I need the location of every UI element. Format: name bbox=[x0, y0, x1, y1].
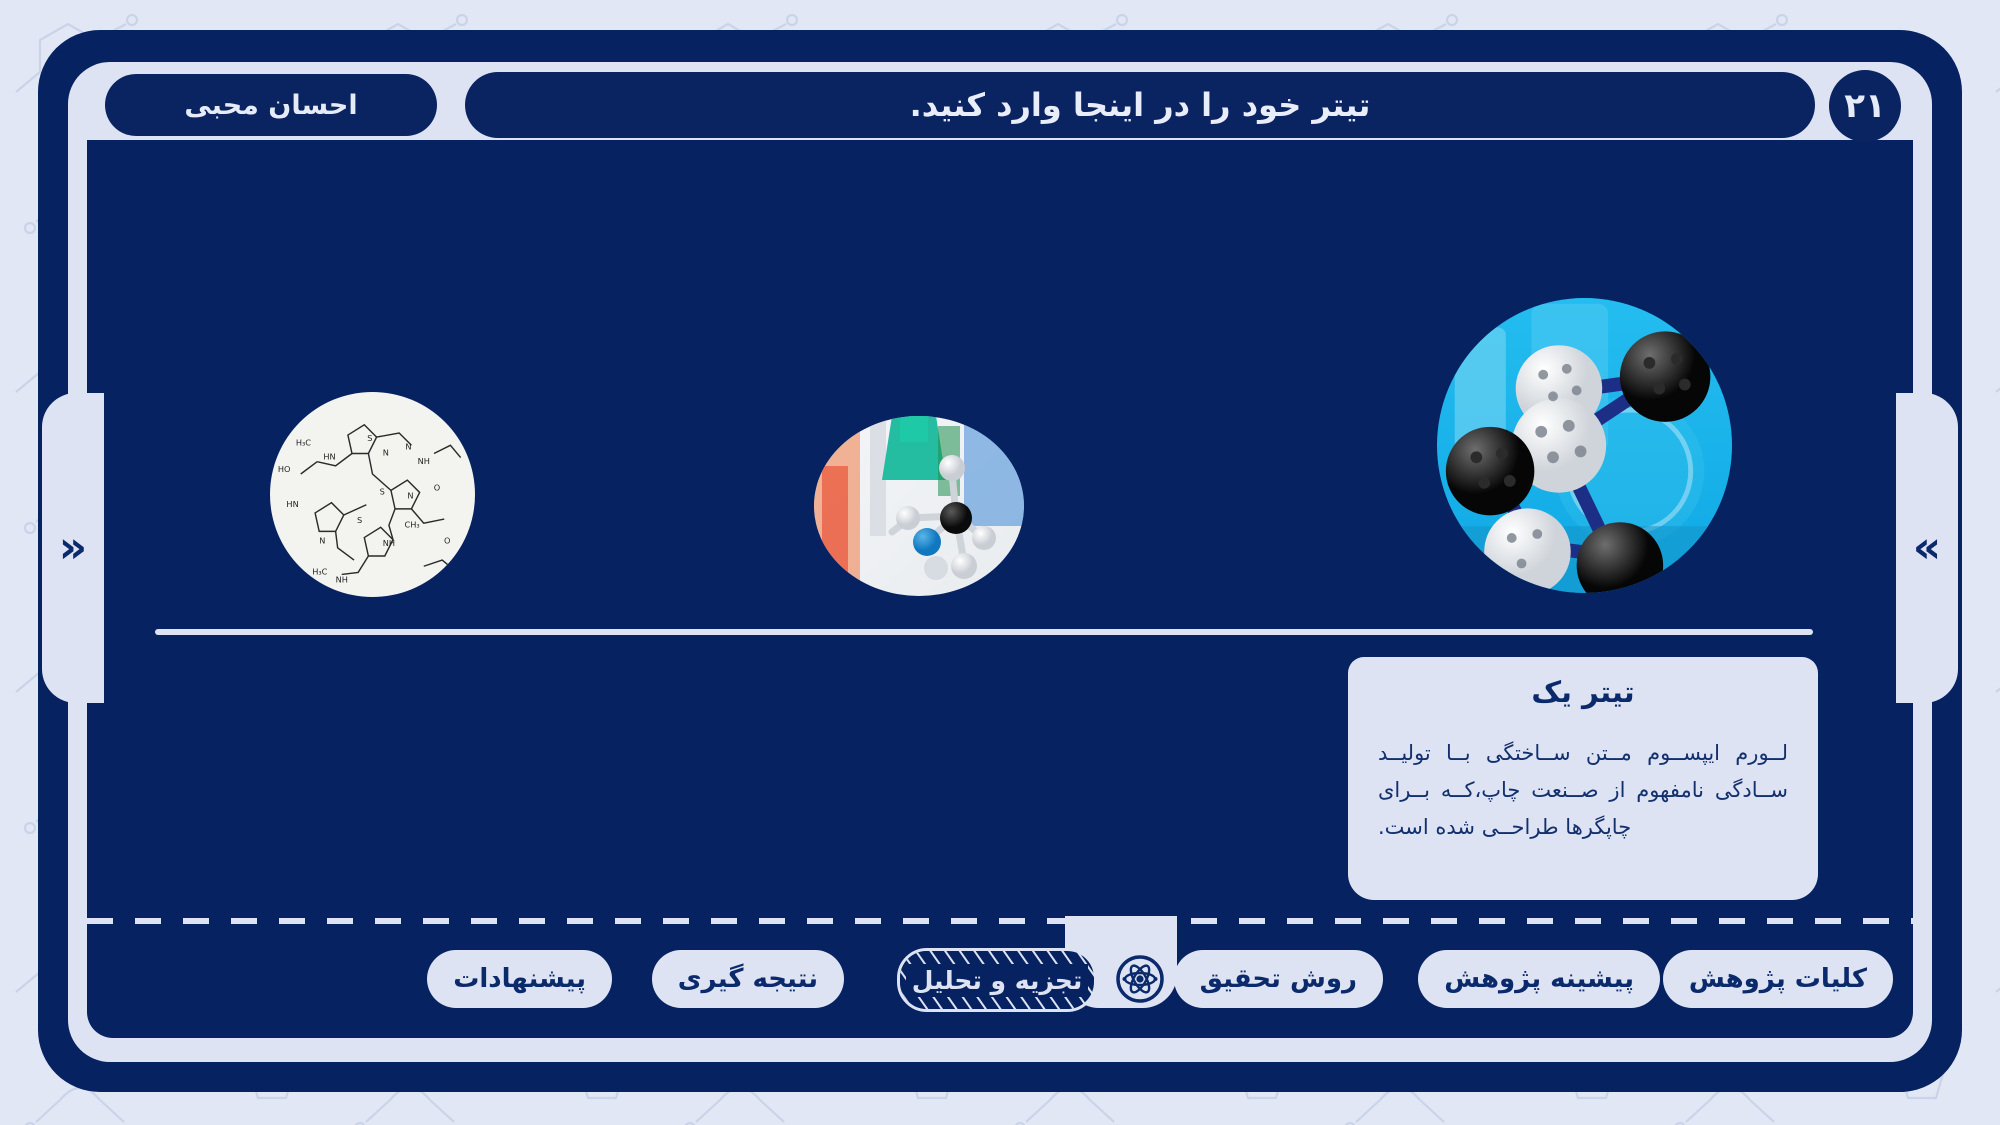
slide-title-bar[interactable]: تیتر خود را در اینجا وارد کنید. bbox=[465, 72, 1815, 138]
chevron-double-left-icon: « bbox=[59, 526, 87, 570]
author-name: احسان محبی bbox=[184, 90, 357, 121]
svg-text:S: S bbox=[380, 487, 385, 497]
svg-text:N: N bbox=[407, 491, 413, 501]
page-number: ۲۱ bbox=[1844, 86, 1886, 126]
author-badge[interactable]: احسان محبی bbox=[105, 74, 437, 136]
tab-label: پیشینه پژوهش bbox=[1444, 964, 1634, 994]
page-title: تیتر خود را در اینجا وارد کنید. bbox=[910, 86, 1371, 124]
svg-text:CH₃: CH₃ bbox=[404, 519, 419, 529]
svg-text:HN: HN bbox=[323, 452, 335, 462]
svg-text:N: N bbox=[405, 441, 411, 451]
svg-text:NH: NH bbox=[418, 456, 430, 466]
tab-label: روش تحقیق bbox=[1200, 964, 1357, 994]
tab-kolliyat-pazhuhesh[interactable]: کلیات پژوهش bbox=[1663, 950, 1893, 1008]
tab-label: کلیات پژوهش bbox=[1689, 964, 1867, 994]
tab-tajzie-va-tahlil[interactable]: تجزیه و تحلیل bbox=[903, 930, 1171, 1026]
content-card[interactable]: تیتر یک لــورم ایپســوم مــتن ســاختگی ب… bbox=[1348, 657, 1818, 900]
tab-label: پیشنهادات bbox=[453, 964, 586, 994]
card-title: تیتر یک bbox=[1378, 675, 1788, 709]
svg-text:N: N bbox=[319, 536, 325, 546]
molecule-model-flasks[interactable] bbox=[814, 416, 1024, 596]
svg-text:HO: HO bbox=[278, 464, 291, 474]
section-divider bbox=[155, 629, 1813, 635]
card-body: لــورم ایپســوم مــتن ســاختگی بــا تولی… bbox=[1378, 735, 1788, 845]
chevron-double-right-icon: » bbox=[1913, 526, 1941, 570]
svg-text:O: O bbox=[444, 536, 450, 546]
svg-text:NH: NH bbox=[383, 538, 395, 548]
svg-text:S: S bbox=[367, 433, 372, 443]
tab-ravesh-tahghigh[interactable]: روش تحقیق bbox=[1174, 950, 1383, 1008]
svg-text:H₃C: H₃C bbox=[312, 566, 327, 576]
active-tab-pill: تجزیه و تحلیل bbox=[897, 948, 1097, 1012]
tab-natije-giri[interactable]: نتیجه گیری bbox=[652, 950, 844, 1008]
svg-text:O: O bbox=[434, 482, 440, 492]
chemical-structure-diagram[interactable]: HOH₃C HNS NN NHS NCH₃ NHS NH₃C HNO NHO bbox=[270, 392, 475, 597]
svg-text:S: S bbox=[357, 515, 362, 525]
atom-icon bbox=[1111, 950, 1169, 1008]
slide-header: احسان محبی تیتر خود را در اینجا وارد کنی… bbox=[87, 62, 1913, 142]
svg-text:NH: NH bbox=[336, 575, 348, 585]
svg-text:H₃C: H₃C bbox=[296, 437, 311, 447]
svg-text:N: N bbox=[383, 448, 389, 458]
dashed-separator bbox=[87, 918, 1913, 924]
tab-pishnahadat[interactable]: پیشنهادات bbox=[427, 950, 612, 1008]
tab-pishine-pazhuhesh[interactable]: پیشینه پژوهش bbox=[1418, 950, 1660, 1008]
next-slide-button[interactable]: » bbox=[1896, 393, 1958, 703]
svg-text:HN: HN bbox=[286, 499, 298, 509]
page-number-badge: ۲۱ bbox=[1829, 70, 1901, 142]
active-tab-label: تجزیه و تحلیل bbox=[906, 964, 1089, 997]
prev-slide-button[interactable]: « bbox=[42, 393, 104, 703]
molecule-model-cyan[interactable] bbox=[1437, 298, 1732, 593]
section-tab-bar: کلیات پژوهش پیشینه پژوهش روش تحقیق تجزیه… bbox=[87, 932, 1913, 1038]
tab-label: نتیجه گیری bbox=[678, 964, 818, 994]
